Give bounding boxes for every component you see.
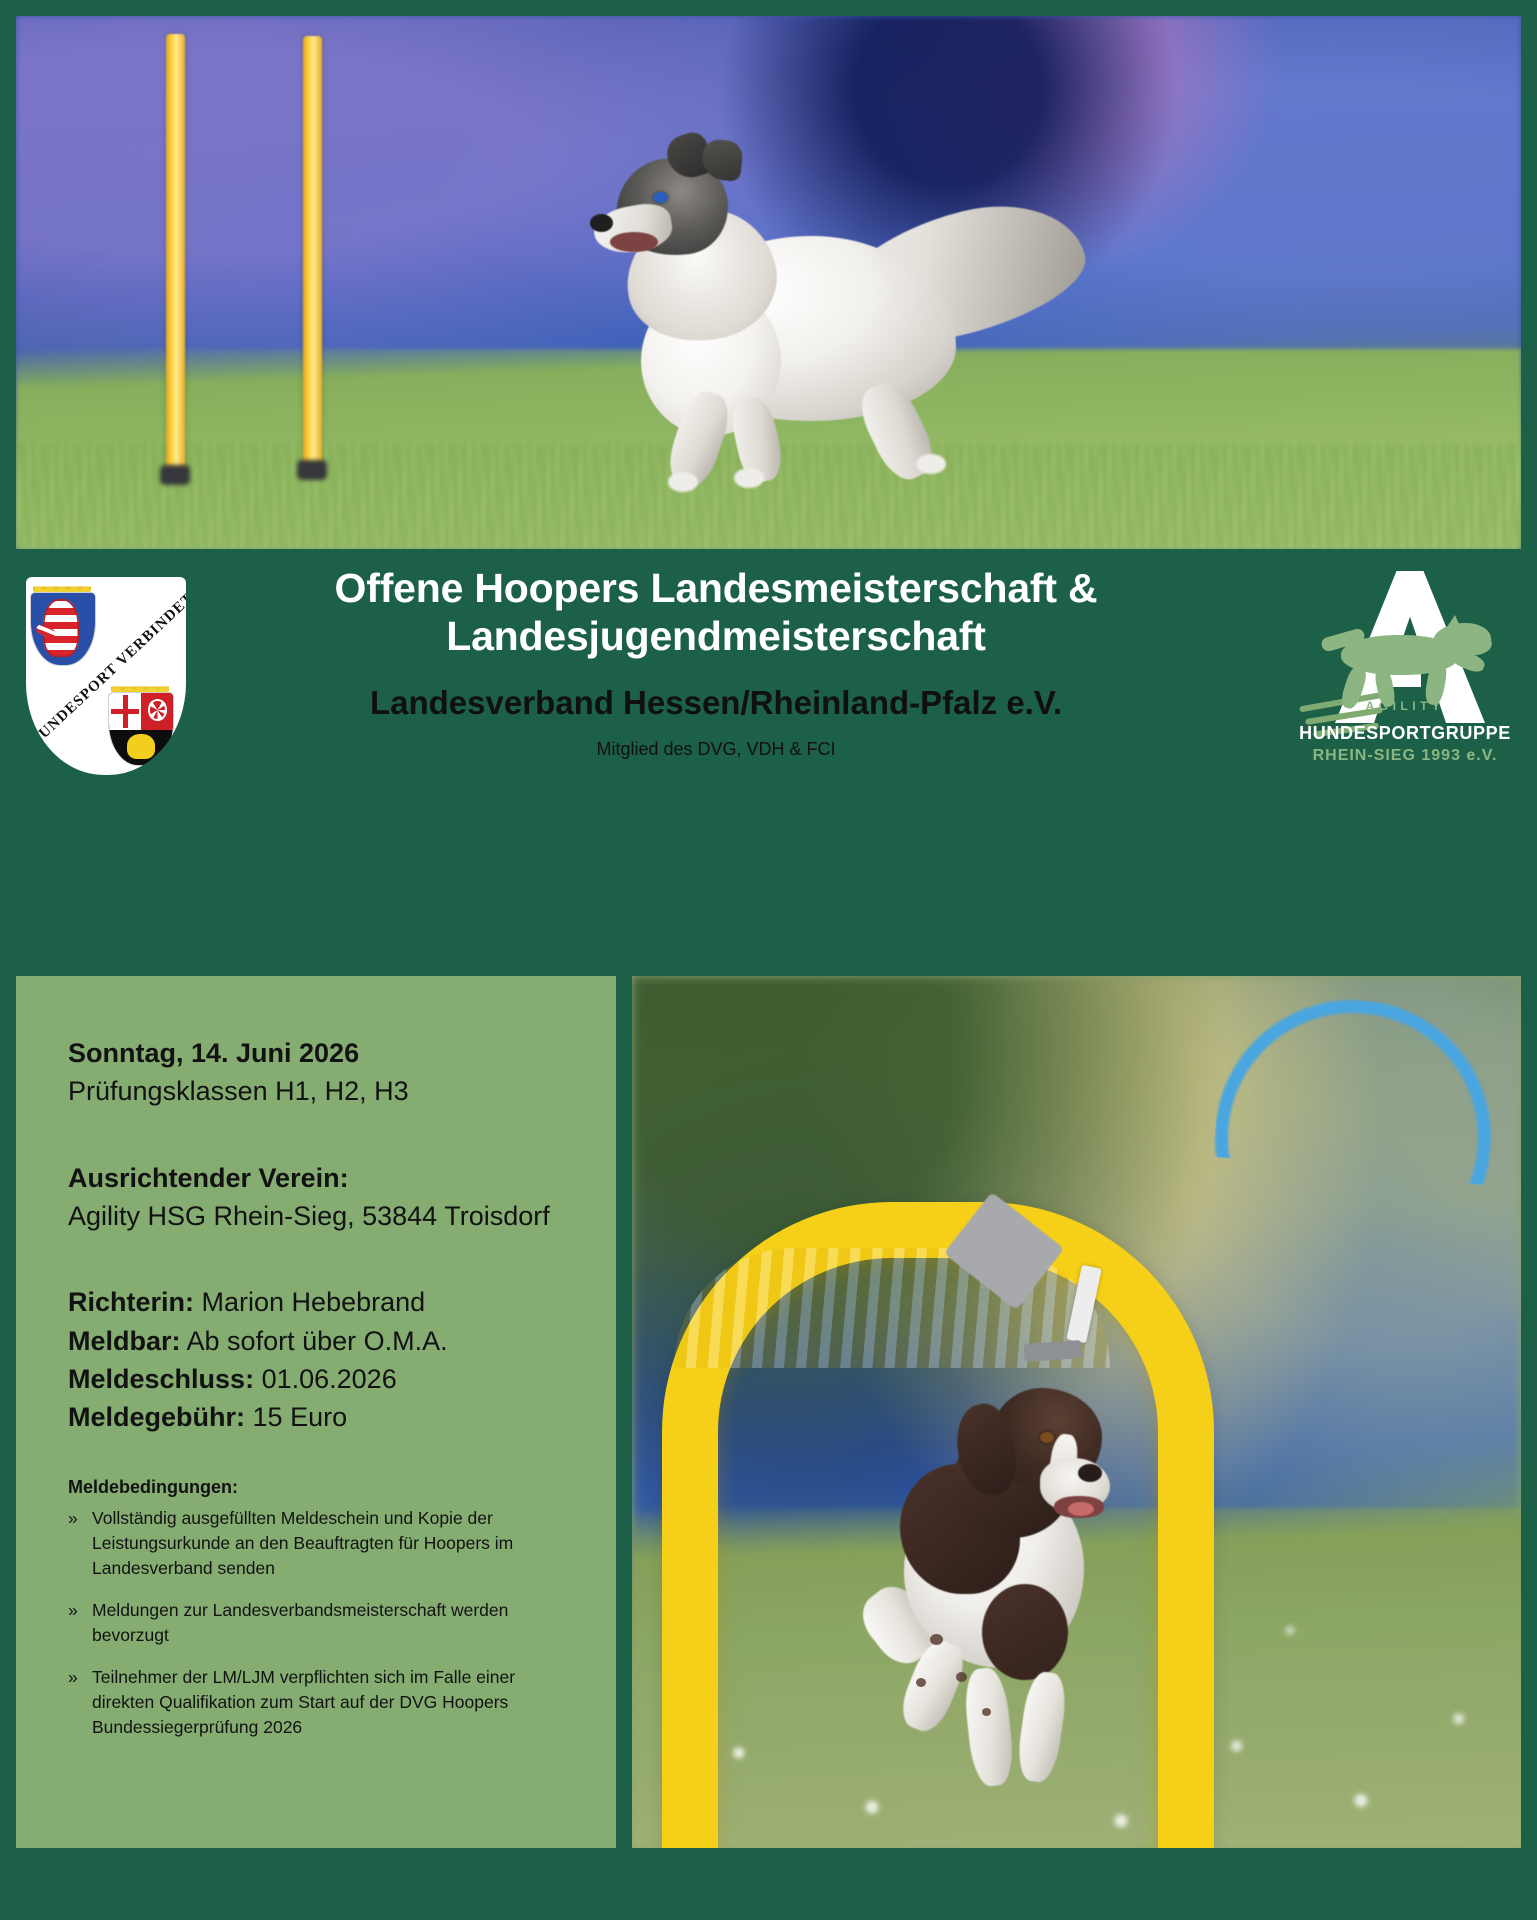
deadline-value: 01.06.2026 — [262, 1364, 397, 1394]
hessen-lion-icon — [43, 599, 79, 657]
conditions-title: Meldebedingungen: — [68, 1477, 572, 1498]
weave-pole-2 — [303, 36, 322, 468]
deadline-label: Meldeschluss: — [68, 1364, 254, 1394]
list-item: »Vollständig ausgefüllten Meldeschein un… — [68, 1506, 572, 1582]
fee-label: Meldegebühr: — [68, 1402, 245, 1432]
event-info-panel: Sonntag, 14. Juni 2026 Prüfungsklassen H… — [16, 976, 616, 1848]
list-item: »Meldungen zur Landesverbandsmeisterscha… — [68, 1598, 572, 1649]
spaniel-patch-flank — [982, 1584, 1068, 1680]
host-label: Ausrichtender Verein: — [68, 1159, 572, 1197]
dog-paw-1 — [668, 472, 698, 492]
spaniel-spot-4 — [982, 1708, 991, 1716]
judge-value: Marion Hebebrand — [202, 1287, 426, 1317]
rlp-shield-body — [108, 692, 174, 766]
bullet-icon: » — [68, 1665, 78, 1690]
hero-photo-sheltie-weave-poles — [16, 16, 1521, 549]
dog-paw-2 — [734, 468, 764, 488]
condition-text: Vollständig ausgefüllten Meldeschein und… — [92, 1508, 513, 1579]
poster-root: HUNDESPORT VERBINDET Offene Hoopers Land… — [0, 0, 1537, 1920]
conditions-list: »Vollständig ausgefüllten Meldeschein un… — [68, 1506, 572, 1741]
spaniel-spot-2 — [956, 1672, 967, 1682]
spaniel-leg-d — [1015, 1670, 1070, 1784]
spacer — [68, 1111, 572, 1159]
rlp-wheel-quarter — [141, 693, 173, 730]
dog-nose — [590, 214, 613, 232]
photo-springer-spaniel-hoop — [632, 976, 1521, 1848]
shield-shape: HUNDESPORT VERBINDET — [26, 577, 186, 775]
dog-eye — [653, 192, 668, 203]
judge-label: Richterin: — [68, 1287, 194, 1317]
hsg-rhein-sieg-logo: AGILITY HUNDESPORTGRUPPE RHEIN-SIEG 1993… — [1297, 571, 1513, 781]
fee-row: Meldegebühr: 15 Euro — [68, 1398, 572, 1436]
rheinland-pfalz-arms-icon — [104, 677, 176, 765]
dog-mouth — [610, 232, 658, 252]
event-date: Sonntag, 14. Juni 2026 — [68, 1034, 572, 1072]
registration-value: Ab sofort über O.M.A. — [187, 1326, 448, 1356]
logo-text-region: RHEIN-SIEG 1993 e.V. — [1297, 747, 1513, 765]
condition-text: Teilnehmer der LM/LJM verpflichten sich … — [92, 1667, 515, 1738]
list-item: »Teilnehmer der LM/LJM verpflichten sich… — [68, 1665, 572, 1741]
springer-spaniel-dog — [864, 1372, 1194, 1808]
logo-text-group: HUNDESPORTGRUPPE — [1297, 723, 1513, 744]
logo-dog-head — [1431, 619, 1493, 661]
spacer — [68, 1437, 572, 1477]
membership-note: Mitglied des DVG, VDH & FCI — [206, 739, 1226, 760]
title-line-2: Landesjugendmeisterschaft — [206, 613, 1226, 661]
weave-pole-base-2 — [297, 460, 327, 480]
dog-paw-3 — [916, 454, 946, 474]
rlp-lion-quarter — [109, 730, 173, 765]
title-block: Offene Hoopers Landesmeisterschaft & Lan… — [206, 565, 1226, 760]
event-classes: Prüfungsklassen H1, H2, H3 — [68, 1072, 572, 1110]
deadline-row: Meldeschluss: 01.06.2026 — [68, 1360, 572, 1398]
fee-value: 15 Euro — [253, 1402, 348, 1432]
logo-text-agility: AGILITY — [1297, 699, 1513, 713]
weave-pole-base-1 — [160, 465, 190, 485]
title-line-1: Offene Hoopers Landesmeisterschaft & — [206, 565, 1226, 613]
hessen-arms-icon — [26, 577, 98, 665]
host-value: Agility HSG Rhein-Sieg, 53844 Troisdorf — [68, 1197, 572, 1235]
condition-text: Meldungen zur Landesverbandsmeisterschaf… — [92, 1600, 508, 1645]
spaniel-leg-c — [962, 1666, 1016, 1788]
spaniel-spot-3 — [916, 1678, 926, 1687]
judge-row: Richterin: Marion Hebebrand — [68, 1283, 572, 1321]
spacer — [68, 1235, 572, 1283]
bottom-section: Sonntag, 14. Juni 2026 Prüfungsklassen H… — [16, 976, 1521, 1848]
registration-row: Meldbar: Ab sofort über O.M.A. — [68, 1322, 572, 1360]
rlp-cross-quarter — [109, 693, 141, 730]
bullet-icon: » — [68, 1598, 78, 1623]
coat-of-arms: HUNDESPORT VERBINDET — [26, 577, 186, 777]
weave-pole-1 — [166, 34, 185, 474]
spaniel-nose — [1078, 1464, 1102, 1482]
spaniel-eye — [1040, 1432, 1054, 1443]
running-dog-icon — [1315, 613, 1493, 713]
spaniel-spot-1 — [930, 1634, 943, 1645]
crown-icon — [111, 677, 169, 693]
spaniel-tongue — [1068, 1502, 1094, 1516]
sheltie-dog — [616, 136, 1076, 496]
title-band: HUNDESPORT VERBINDET Offene Hoopers Land… — [0, 549, 1537, 960]
bullet-icon: » — [68, 1506, 78, 1531]
crown-icon — [33, 577, 91, 593]
hessen-shield-body — [30, 592, 96, 666]
registration-label: Meldbar: — [68, 1326, 181, 1356]
subtitle-association: Landesverband Hessen/Rheinland-Pfalz e.V… — [206, 683, 1226, 723]
